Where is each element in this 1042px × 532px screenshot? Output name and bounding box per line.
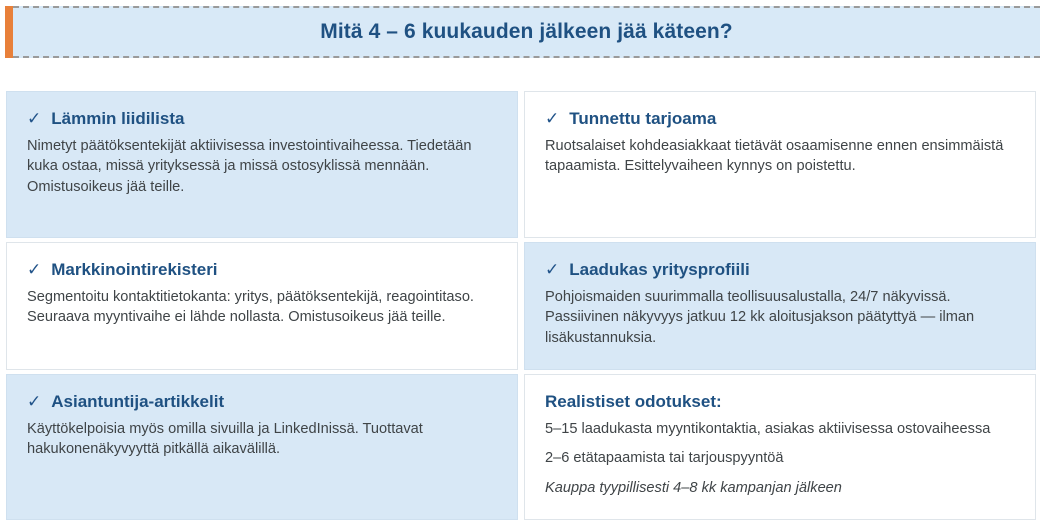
benefit-card-warm-lead-list: ✓ Lämmin liidilista Nimetyt päätöksentek… [6, 91, 518, 238]
benefit-card-known-offering: ✓ Tunnettu tarjoama Ruotsalaiset kohdeas… [524, 91, 1036, 238]
benefit-card-marketing-register: ✓ Markkinointirekisteri Segmentoitu kont… [6, 242, 518, 370]
grid-row: ✓ Asiantuntija-artikkelit Käyttökelpoisi… [6, 374, 1036, 520]
page-title: Mitä 4 – 6 kuukauden jälkeen jää käteen? [320, 20, 733, 44]
card-title: Laadukas yritysprofiili [569, 261, 749, 280]
grid-row: ✓ Markkinointirekisteri Segmentoitu kont… [6, 242, 1036, 370]
benefit-card-expert-articles: ✓ Asiantuntija-artikkelit Käyttökelpoisi… [6, 374, 518, 520]
expectations-line-1: 5–15 laadukasta myyntikontaktia, asiakas… [545, 419, 1015, 440]
card-title: Markkinointirekisteri [51, 261, 217, 280]
check-icon: ✓ [545, 111, 559, 128]
card-body-text: Ruotsalaiset kohdeasiakkaat tietävät osa… [545, 136, 1015, 177]
card-body: Segmentoitu kontaktitietokanta: yritys, … [27, 287, 497, 328]
realistic-expectations-card: Realistiset odotukset: 5–15 laadukasta m… [524, 374, 1036, 520]
expectations-title: Realistiset odotukset: [545, 393, 1015, 412]
check-icon: ✓ [545, 262, 559, 279]
card-body-text: Nimetyt päätöksentekijät aktiivisessa in… [27, 136, 497, 198]
expectations-line-2: 2–6 etätapaamista tai tarjouspyyntöä [545, 448, 1015, 469]
grid-row: ✓ Lämmin liidilista Nimetyt päätöksentek… [6, 91, 1036, 238]
card-heading: ✓ Laadukas yritysprofiili [545, 261, 1015, 280]
card-body: Nimetyt päätöksentekijät aktiivisessa in… [27, 136, 497, 198]
card-body: Käyttökelpoisia myös omilla sivuilla ja … [27, 419, 497, 460]
benefits-grid: ✓ Lämmin liidilista Nimetyt päätöksentek… [6, 91, 1036, 520]
card-heading: ✓ Markkinointirekisteri [27, 261, 497, 280]
check-icon: ✓ [27, 262, 41, 279]
card-body: Pohjoismaiden suurimmalla teollisuusalus… [545, 287, 1015, 349]
card-heading: ✓ Asiantuntija-artikkelit [27, 393, 497, 412]
benefit-card-quality-company-profile: ✓ Laadukas yritysprofiili Pohjoismaiden … [524, 242, 1036, 370]
card-body: Ruotsalaiset kohdeasiakkaat tietävät osa… [545, 136, 1015, 177]
card-title: Lämmin liidilista [51, 110, 184, 129]
header-accent-bar [5, 6, 13, 58]
card-heading: ✓ Tunnettu tarjoama [545, 110, 1015, 129]
card-body-text: Käyttökelpoisia myös omilla sivuilla ja … [27, 419, 497, 460]
check-icon: ✓ [27, 394, 41, 411]
card-body-text: Pohjoismaiden suurimmalla teollisuusalus… [545, 287, 1015, 349]
slide-header: Mitä 4 – 6 kuukauden jälkeen jää käteen? [5, 6, 1040, 58]
card-title: Asiantuntija-artikkelit [51, 393, 224, 412]
card-title: Tunnettu tarjoama [569, 110, 716, 129]
card-heading: ✓ Lämmin liidilista [27, 110, 497, 129]
expectations-line-3: Kauppa tyypillisesti 4–8 kk kampanjan jä… [545, 478, 1015, 499]
card-body-text: Segmentoitu kontaktitietokanta: yritys, … [27, 287, 497, 328]
check-icon: ✓ [27, 111, 41, 128]
slide-root: Mitä 4 – 6 kuukauden jälkeen jää käteen?… [0, 0, 1042, 532]
header-band: Mitä 4 – 6 kuukauden jälkeen jää käteen? [13, 6, 1040, 58]
